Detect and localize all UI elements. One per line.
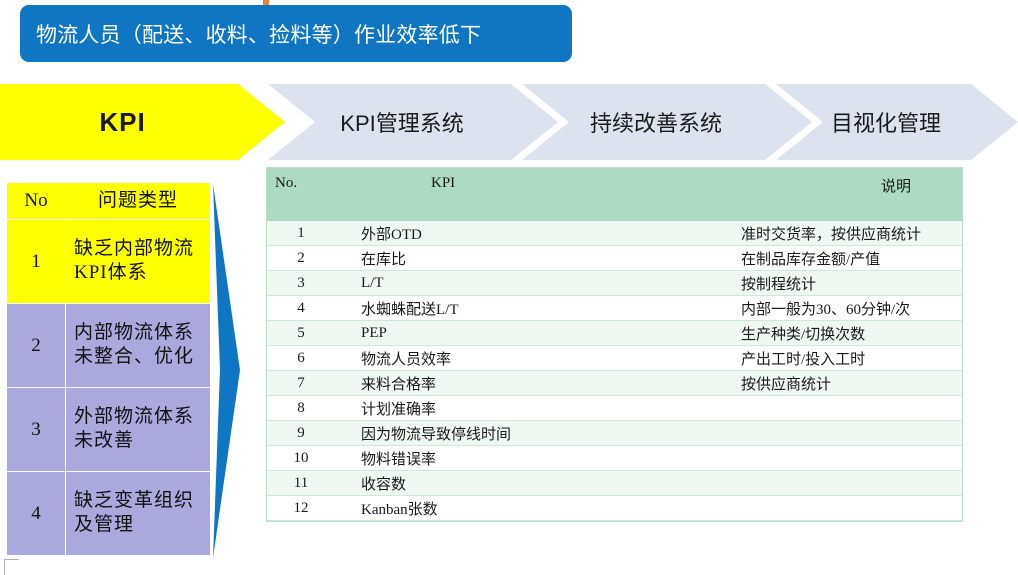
table-row[interactable]: 10 物料错误率 — [267, 446, 962, 471]
kpi-no: 7 — [267, 371, 335, 396]
table-row[interactable]: 8 计划准确率 — [267, 396, 962, 421]
kpi-name: 在库比 — [335, 246, 741, 271]
process-step-label: KPI管理系统 — [340, 106, 463, 138]
problem-no: 1 — [7, 220, 66, 304]
table-row[interactable]: 3 L/T 按制程统计 — [267, 271, 962, 296]
kpi-no: 2 — [267, 246, 335, 271]
kpi-name: 水蜘蛛配送L/T — [335, 296, 741, 321]
kpi-description — [741, 421, 962, 446]
table-row[interactable]: 6 物流人员效率 产出工时/投入工时 — [267, 346, 962, 371]
kpi-description: 在制品库存金额/产值 — [741, 246, 962, 271]
title-banner: 物流人员（配送、收料、捡料等）作业效率低下 — [20, 5, 572, 62]
table-row[interactable]: 1 外部OTD 准时交货率，按供应商统计 — [267, 221, 962, 246]
table-row[interactable]: 3 外部物流体系未改善 — [7, 388, 211, 472]
kpi-description: 产出工时/投入工时 — [741, 346, 962, 371]
table-row[interactable]: 2 内部物流体系未整合、优化 — [7, 304, 211, 388]
kpi-description: 准时交货率，按供应商统计 — [741, 221, 962, 246]
kpi-no: 11 — [267, 471, 335, 496]
kpi-description: 按制程统计 — [741, 271, 962, 296]
kpi-no: 12 — [267, 496, 335, 521]
kpi-name: 物料错误率 — [335, 446, 741, 471]
blue-arrow-connector-icon — [210, 184, 252, 558]
kpi-name: Kanban张数 — [335, 496, 741, 521]
kpi-no: 8 — [267, 396, 335, 421]
problem-type-table: No 问题类型 1 缺乏内部物流KPI体系 2 内部物流体系未整合、优化 3 外… — [6, 182, 211, 556]
kpi-no: 9 — [267, 421, 335, 446]
table-row[interactable]: 4 缺乏变革组织及管理 — [7, 472, 211, 556]
kpi-name: L/T — [335, 271, 741, 296]
kpi-name: 外部OTD — [335, 221, 741, 246]
problem-type: 内部物流体系未整合、优化 — [66, 304, 211, 388]
kpi-no: 6 — [267, 346, 335, 371]
kpi-description — [741, 496, 962, 521]
problem-type: 缺乏变革组织及管理 — [66, 472, 211, 556]
process-step-label: 目视化管理 — [831, 106, 941, 138]
process-step-kpi-management-system[interactable]: KPI管理系统 — [268, 84, 558, 160]
kpi-no: 3 — [267, 271, 335, 296]
table-row[interactable]: 4 水蜘蛛配送L/T 内部一般为30、60分钟/次 — [267, 296, 962, 321]
table-row[interactable]: 2 在库比 在制品库存金额/产值 — [267, 246, 962, 271]
kpi-no: 4 — [267, 296, 335, 321]
kpi-name: 物流人员效率 — [335, 346, 741, 371]
kpi-description — [741, 471, 962, 496]
column-header-description: 说明 — [741, 168, 962, 221]
table-row[interactable]: 12 Kanban张数 — [267, 496, 962, 521]
kpi-name: 因为物流导致停线时间 — [335, 421, 741, 446]
kpi-name: 计划准确率 — [335, 396, 741, 421]
table-row[interactable]: 9 因为物流导致停线时间 — [267, 421, 962, 446]
kpi-no: 5 — [267, 321, 335, 346]
kpi-name: 收容数 — [335, 471, 741, 496]
table-row[interactable]: 7 来料合格率 按供应商统计 — [267, 371, 962, 396]
kpi-no: 10 — [267, 446, 335, 471]
column-header-no: No — [7, 183, 66, 220]
bottom-left-corner-artifact — [4, 559, 19, 575]
problem-type: 缺乏内部物流KPI体系 — [66, 220, 211, 304]
kpi-name: PEP — [335, 321, 741, 346]
kpi-table: No. KPI 说明 1 外部OTD 准时交货率，按供应商统计 2 在库比 在制… — [267, 168, 962, 521]
table-header-row: No 问题类型 — [7, 183, 211, 220]
process-step-visual-management[interactable]: 目视化管理 — [776, 84, 1018, 160]
table-header-row: No. KPI 说明 — [267, 168, 962, 221]
kpi-description: 生产种类/切换次数 — [741, 321, 962, 346]
problem-no: 4 — [7, 472, 66, 556]
process-step-continuous-improvement-system[interactable]: 持续改善系统 — [522, 84, 812, 160]
kpi-description: 内部一般为30、60分钟/次 — [741, 296, 962, 321]
kpi-description: 按供应商统计 — [741, 371, 962, 396]
problem-no: 3 — [7, 388, 66, 472]
column-header-no: No. — [267, 168, 335, 221]
table-row[interactable]: 5 PEP 生产种类/切换次数 — [267, 321, 962, 346]
kpi-no: 1 — [267, 221, 335, 246]
table-row[interactable]: 11 收容数 — [267, 471, 962, 496]
problem-no: 2 — [7, 304, 66, 388]
kpi-description — [741, 396, 962, 421]
problem-type: 外部物流体系未改善 — [66, 388, 211, 472]
column-header-kpi: KPI — [335, 168, 741, 221]
column-header-problem-type: 问题类型 — [66, 183, 211, 220]
kpi-description — [741, 446, 962, 471]
title-banner-text: 物流人员（配送、收料、捡料等）作业效率低下 — [36, 19, 481, 49]
process-step-label: KPI — [99, 107, 145, 138]
process-step-label: 持续改善系统 — [590, 106, 722, 138]
kpi-name: 来料合格率 — [335, 371, 741, 396]
process-step-kpi[interactable]: KPI — [0, 84, 285, 160]
kpi-table-container: No. KPI 说明 1 外部OTD 准时交货率，按供应商统计 2 在库比 在制… — [266, 167, 963, 522]
table-row[interactable]: 1 缺乏内部物流KPI体系 — [7, 220, 211, 304]
process-chevron-bar: KPI KPI管理系统 持续改善系统 目视化管理 — [0, 84, 1018, 160]
